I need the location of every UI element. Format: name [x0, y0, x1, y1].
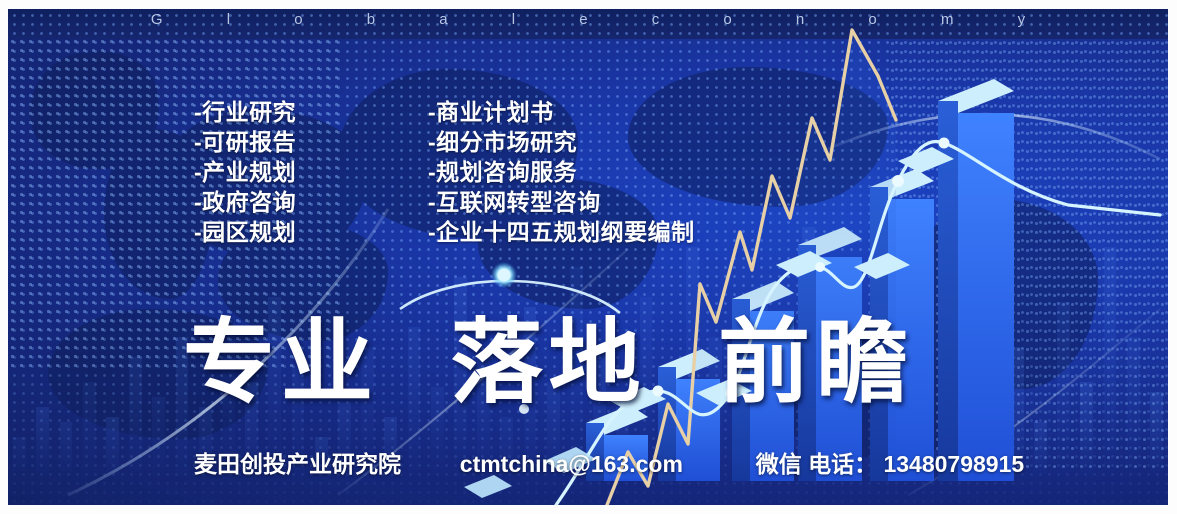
services-left-column: -行业研究 -可研报告 -产业规划 -政府咨询 -园区规划 [194, 97, 296, 247]
service-item: -产业规划 [194, 157, 296, 187]
services-right-column: -商业计划书 -细分市场研究 -规划咨询服务 -互联网转型咨询 -企业十四五规划… [428, 97, 695, 247]
contact-label: 微信 电话： [756, 450, 877, 478]
phone-number[interactable]: 13480798915 [883, 450, 1024, 478]
service-item: -园区规划 [194, 217, 296, 247]
service-item: -企业十四五规划纲要编制 [428, 217, 695, 247]
banner-page: G l o b a l e c o n o m y -行业研究 -可研报告 -产… [0, 0, 1177, 514]
headline-word-3: 前瞻 [718, 312, 914, 414]
email-address[interactable]: ctmtchina@163.com [460, 450, 683, 478]
service-item: -规划咨询服务 [428, 157, 695, 187]
headline-word-1: 专业 [183, 312, 379, 414]
service-item: -行业研究 [194, 97, 296, 127]
service-item: -政府咨询 [194, 187, 296, 217]
service-item: -互联网转型咨询 [428, 187, 695, 217]
marketing-banner: G l o b a l e c o n o m y -行业研究 -可研报告 -产… [8, 9, 1168, 505]
service-item: -商业计划书 [428, 97, 695, 127]
headline-word-2: 落地 [451, 312, 647, 414]
globe-arc-lines [8, 9, 1168, 505]
footer-contact-line: 麦田创投产业研究院 ctmtchina@163.com 微信 电话： 13480… [194, 450, 1024, 478]
global-economy-word: G l o b a l e c o n o m y [8, 11, 1168, 28]
organization-name: 麦田创投产业研究院 [194, 450, 401, 478]
service-item: -细分市场研究 [428, 127, 695, 157]
headline-slogan: 专业 落地 前瞻 [183, 311, 914, 415]
service-item: -可研报告 [194, 127, 296, 157]
